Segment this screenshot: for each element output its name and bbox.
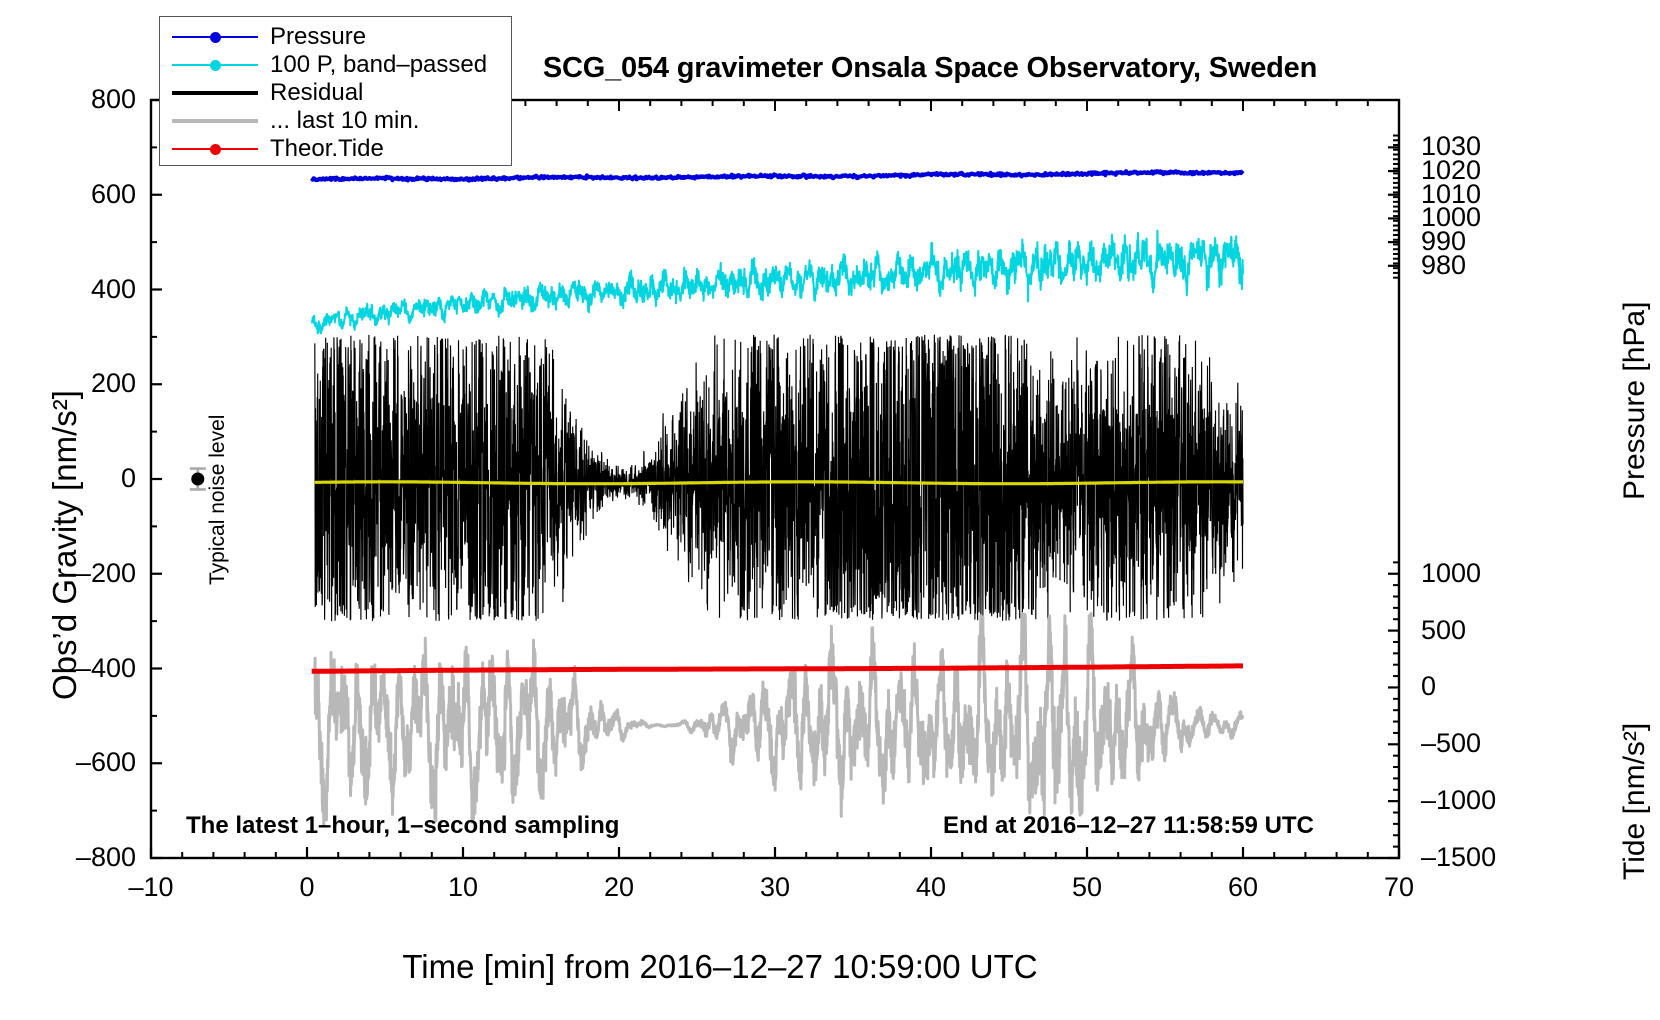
y-tick-label-left: –800 [10,842,136,873]
chart-canvas: Obs’d Gravity [nm/s²] Pressure [hPa] Tid… [0,0,1660,1020]
legend-item-label: Pressure [270,23,366,51]
tide-tick-label: –1500 [1421,842,1531,873]
y-tick-label-left: 0 [10,463,136,494]
y-tick-label-left: –200 [10,558,136,589]
legend-swatch-icon [172,55,258,75]
series-zero-reference [315,482,1243,484]
x-tick-label: 50 [1027,872,1147,903]
x-tick-label: 30 [715,872,835,903]
legend-swatch-icon [172,27,258,47]
legend-item[interactable]: Theor.Tide [172,135,511,163]
annotation-sampling-note: The latest 1–hour, 1–second sampling [186,812,619,840]
legend-swatch-icon [172,83,258,103]
tide-tick-label: –1000 [1421,785,1531,816]
tide-tick-label: 0 [1421,671,1531,702]
x-tick-label: 10 [403,872,523,903]
legend-line [172,91,258,95]
chart-legend: Pressure100 P, band–passedResidual... la… [159,16,512,166]
legend-item-label: Theor.Tide [270,135,384,163]
annotation-typical-noise-level: Typical noise level [206,415,230,585]
x-tick-label: 70 [1339,872,1459,903]
legend-line [172,119,258,123]
y-tick-label-left: 200 [10,368,136,399]
tide-tick-label: 1000 [1421,558,1531,589]
legend-marker-dot [210,32,221,43]
x-tick-label: 0 [247,872,367,903]
legend-marker-dot [210,60,221,71]
y-tick-label-left: –400 [10,653,136,684]
x-tick-label: –10 [91,872,211,903]
legend-marker-dot [210,144,221,155]
legend-swatch-icon [172,139,258,159]
legend-item-label: ... last 10 min. [270,107,419,135]
legend-item-label: Residual [270,79,363,107]
x-tick-label: 40 [871,872,991,903]
tide-tick-label: –500 [1421,728,1531,759]
x-tick-label: 60 [1183,872,1303,903]
legend-item[interactable]: 100 P, band–passed [172,51,511,79]
annotation-end-time: End at 2016–12–27 11:58:59 UTC [943,812,1314,840]
legend-item[interactable]: Residual [172,79,511,107]
legend-item-label: 100 P, band–passed [270,51,487,79]
legend-item[interactable]: ... last 10 min. [172,107,511,135]
y-tick-label-left: 600 [10,179,136,210]
legend-swatch-icon [172,111,258,131]
y-tick-label-left: –600 [10,747,136,778]
pressure-tick-label: 980 [1421,250,1531,281]
tide-tick-label: 500 [1421,615,1531,646]
noise-errorbar-dot [191,473,204,486]
y-tick-label-left: 400 [10,274,136,305]
y-tick-label-left: 800 [10,84,136,115]
x-tick-label: 20 [559,872,679,903]
legend-item[interactable]: Pressure [172,23,511,51]
